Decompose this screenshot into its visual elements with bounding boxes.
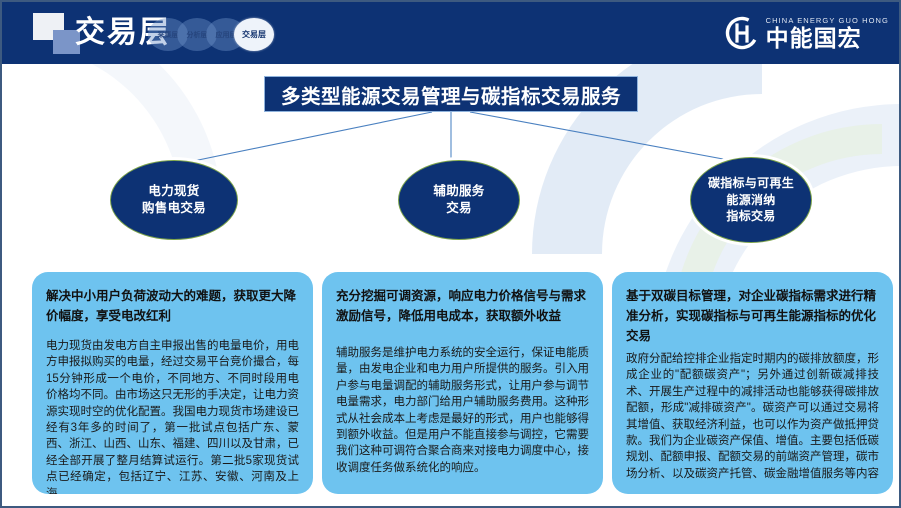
brand-logo: CHINA ENERGY GUO HONG 中能国宏	[725, 12, 889, 54]
main-title-text: 多类型能源交易管理与碳指标交易服务	[281, 80, 621, 109]
slide-canvas: 交易层 采集层 分析层 应用层 交易层 CHINA ENERGY GUO HON…	[0, 0, 901, 508]
content-card-3: 基于双碳目标管理，对企业碳指标需求进行精准分析，实现碳指标与可再生能源指标的优化…	[612, 272, 893, 494]
card-heading-1: 解决中小用户负荷波动大的难题，获取更大降价幅度，享受电改红利	[46, 286, 299, 326]
card-heading-2: 充分挖掘可调资源，响应电力价格信号与需求激励信号，降低用电成本，获取额外收益	[336, 286, 589, 326]
content-card-2: 充分挖掘可调资源，响应电力价格信号与需求激励信号，降低用电成本，获取额外收益 辅…	[322, 272, 603, 494]
brand-text: CHINA ENERGY GUO HONG 中能国宏	[766, 16, 889, 50]
content-card-1: 解决中小用户负荷波动大的难题，获取更大降价幅度，享受电改红利 电力现货由发电方自…	[32, 272, 313, 494]
node-carbon-index-trading[interactable]: 碳指标与可再生 能源消纳 指标交易	[690, 157, 812, 243]
card-body-1: 电力现货由发电方自主申报出售的电量电价，用电方申报拟购买的电量，经过交易平台竞价…	[46, 338, 299, 494]
card-body-2: 辅助服务是维护电力系统的安全运行，保证电能质量，由发电企业和电力用户所提供的服务…	[336, 345, 589, 476]
node-ancillary-service-trading[interactable]: 辅助服务 交易	[398, 160, 520, 240]
node-label-3: 碳指标与可再生 能源消纳 指标交易	[708, 175, 794, 225]
node-label-1: 电力现货 购售电交易	[142, 183, 206, 217]
card-heading-3: 基于双碳目标管理，对企业碳指标需求进行精准分析，实现碳指标与可再生能源指标的优化…	[626, 286, 879, 346]
card-body-3: 政府分配给控排企业指定时期内的碳排放额度，形成企业的"配额碳资产"；另外通过创新…	[626, 351, 879, 482]
node-spot-power-trading[interactable]: 电力现货 购售电交易	[110, 160, 238, 240]
brand-english: CHINA ENERGY GUO HONG	[766, 16, 889, 25]
guohong-logo-icon	[725, 16, 759, 50]
node-label-2: 辅助服务 交易	[433, 183, 484, 217]
brand-chinese: 中能国宏	[766, 26, 889, 50]
header-bar: 交易层 采集层 分析层 应用层 交易层 CHINA ENERGY GUO HON…	[2, 2, 901, 64]
layer-chip-transaction[interactable]: 交易层	[234, 18, 274, 51]
main-title-banner: 多类型能源交易管理与碳指标交易服务	[264, 76, 638, 112]
